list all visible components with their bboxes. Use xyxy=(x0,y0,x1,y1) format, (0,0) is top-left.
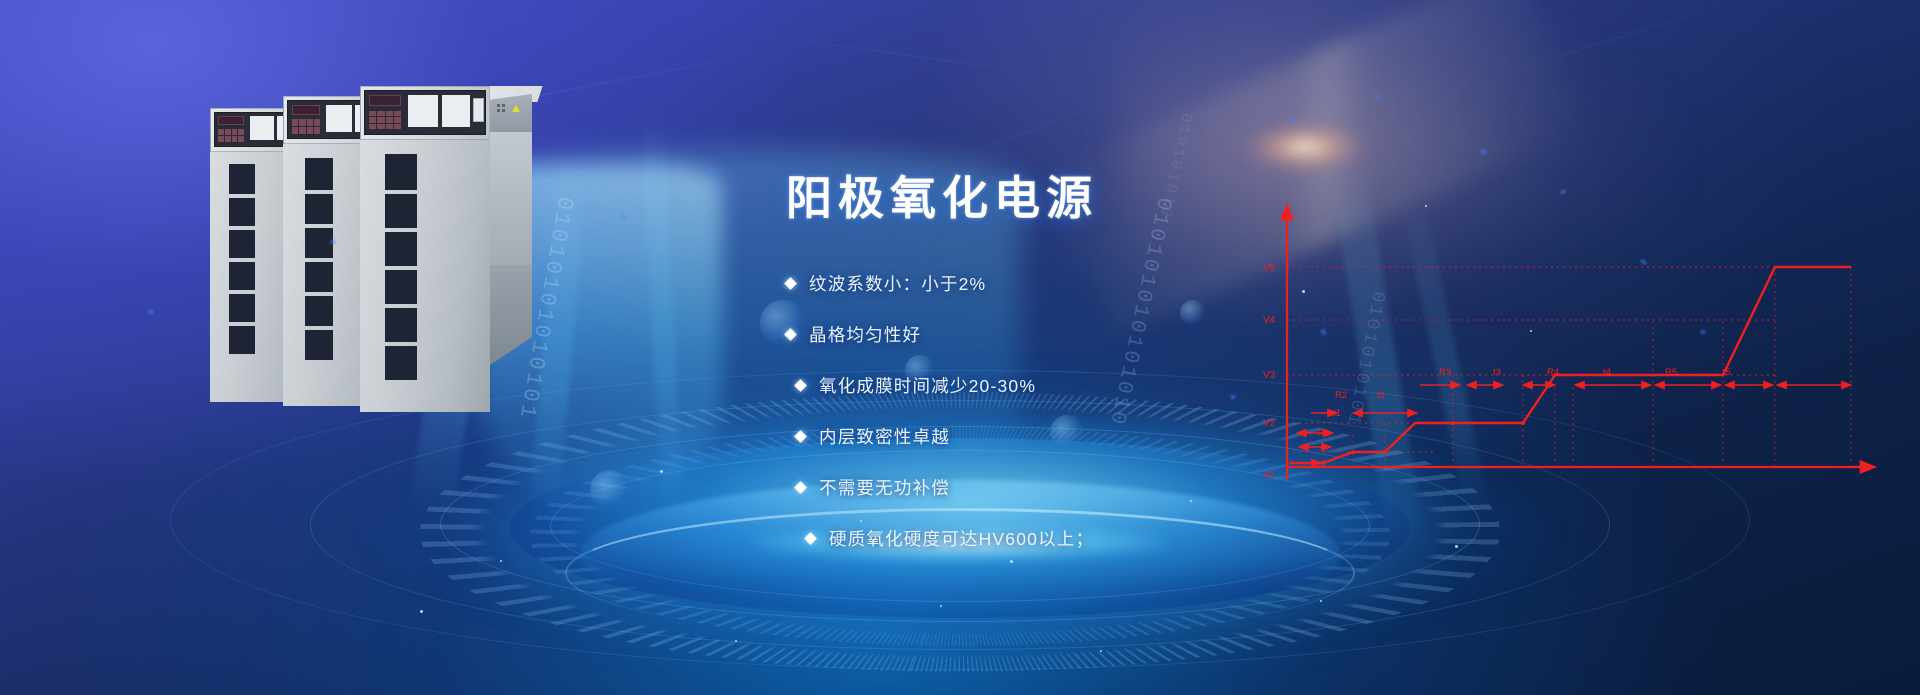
particle xyxy=(1455,545,1458,548)
feature-text: 不需要无功补偿 xyxy=(819,475,950,500)
page-title: 阳极氧化电源 xyxy=(786,172,1406,225)
cabinet-label-card xyxy=(442,95,470,127)
particle xyxy=(1320,600,1322,602)
particle xyxy=(940,605,942,607)
cabinet-vent xyxy=(385,270,417,304)
cabinet-vent xyxy=(229,262,255,290)
lens-flare-core xyxy=(1240,120,1370,174)
cabinet-vent xyxy=(305,158,333,190)
cabinet-keypad xyxy=(292,119,320,134)
warning-triangle-icon xyxy=(512,105,520,112)
cabinet-side-face xyxy=(490,94,532,134)
cabinet-vent xyxy=(305,262,333,292)
banner-root: 01010101010101 010101010101010 010101010… xyxy=(0,0,1920,695)
diamond-bullet-icon xyxy=(794,430,807,443)
cabinet-vent xyxy=(229,230,255,258)
chart-label-r5: R5 xyxy=(1665,367,1677,378)
chart-label-t4: t4 xyxy=(1603,367,1611,378)
chart-label-t3: t3 xyxy=(1493,367,1501,378)
feature-text: 氧化成膜时间减少20-30% xyxy=(819,373,1036,398)
content-block: 阳极氧化电源 纹波系数小：小于2% 晶格均匀性好 氧化成膜时间减少20-30% … xyxy=(786,172,1406,577)
bokeh-particle xyxy=(590,470,630,510)
feature-item-1: 纹波系数小：小于2% xyxy=(786,271,1406,296)
cabinet-vent xyxy=(229,294,255,322)
chart-label-t5: t5 xyxy=(1723,367,1731,378)
cabinet-keypad xyxy=(218,129,244,142)
feature-item-6: 硬质氧化硬度可达HV600以上； xyxy=(806,526,1406,551)
cabinet-vent xyxy=(305,330,333,360)
feature-item-3: 氧化成膜时间减少20-30% xyxy=(796,373,1406,398)
light-streak xyxy=(702,26,1118,85)
cabinet-label-card xyxy=(326,105,352,132)
cabinet-vent xyxy=(229,164,255,194)
cabinet-indicator-dots xyxy=(497,104,505,112)
chart-label-r4: R4 xyxy=(1547,367,1559,378)
diamond-bullet-icon xyxy=(804,532,817,545)
cabinet-display xyxy=(369,95,401,106)
cabinet-vent xyxy=(229,198,255,226)
cabinet-vent xyxy=(305,194,333,224)
feature-text: 内层致密性卓越 xyxy=(819,424,950,449)
cabinet-body xyxy=(360,140,490,412)
feature-list: 纹波系数小：小于2% 晶格均匀性好 氧化成膜时间减少20-30% 内层致密性卓越… xyxy=(786,271,1406,551)
cabinet-label-card xyxy=(250,116,274,140)
cabinet-display xyxy=(218,116,244,125)
cabinet-vent xyxy=(385,194,417,228)
cabinet-label-card xyxy=(408,95,438,127)
diamond-bullet-icon xyxy=(784,328,797,341)
feature-text: 纹波系数小：小于2% xyxy=(809,271,986,296)
cabinet-vent xyxy=(229,326,255,354)
cabinet-vent xyxy=(305,296,333,326)
cabinet-vent xyxy=(385,232,417,266)
diamond-bullet-icon xyxy=(794,379,807,392)
diamond-bullet-icon xyxy=(784,277,797,290)
cabinet-vent xyxy=(385,154,417,190)
particle xyxy=(148,309,155,314)
feature-item-2: 晶格均匀性好 xyxy=(786,322,1406,347)
cabinet-keypad xyxy=(369,111,401,129)
particle xyxy=(1425,205,1427,207)
diamond-bullet-icon xyxy=(794,481,807,494)
cabinet-vent xyxy=(385,308,417,342)
particle xyxy=(735,640,737,642)
feature-item-5: 不需要无功补偿 xyxy=(796,475,1406,500)
cabinet-breaker xyxy=(473,98,484,122)
particle xyxy=(420,610,423,613)
particle xyxy=(1530,330,1532,332)
particle xyxy=(1100,650,1102,652)
particle xyxy=(500,560,502,562)
particle xyxy=(660,470,663,473)
cabinet-display xyxy=(292,105,320,115)
chart-label-r3: R3 xyxy=(1439,367,1451,378)
cabinet-side-face xyxy=(490,132,532,266)
cabinet-vent xyxy=(385,346,417,380)
feature-text: 晶格均匀性好 xyxy=(809,322,921,347)
feature-item-4: 内层致密性卓越 xyxy=(796,424,1406,449)
cabinet-vent xyxy=(305,228,333,258)
feature-text: 硬质氧化硬度可达HV600以上； xyxy=(829,526,1094,551)
